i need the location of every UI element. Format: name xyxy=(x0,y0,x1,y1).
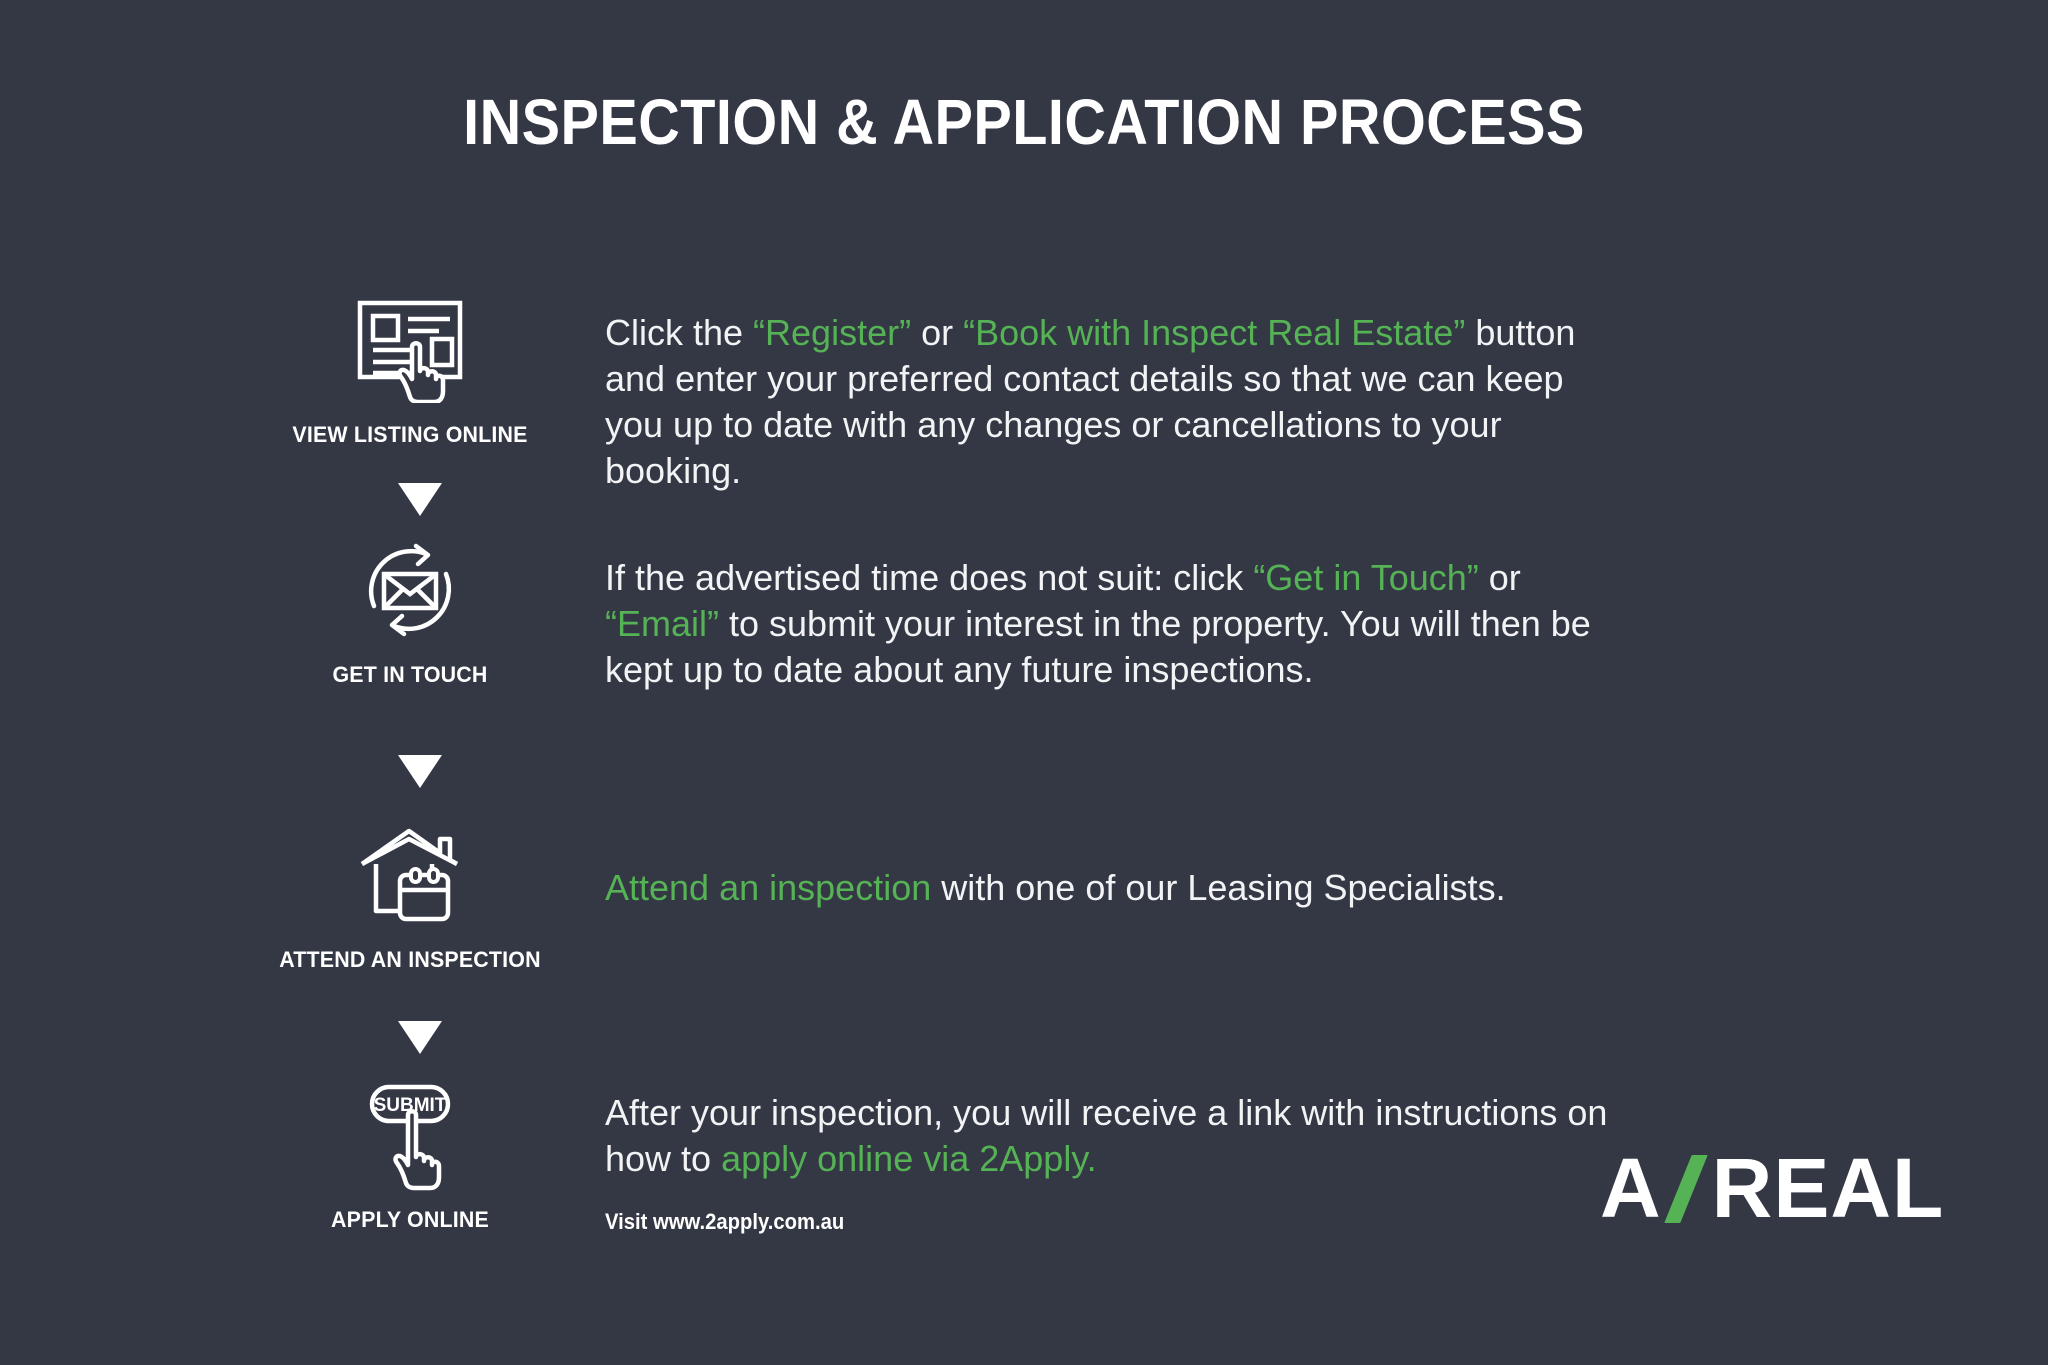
step-4-icon-and-label: SUBMIT APPLY ONLINE xyxy=(265,1075,555,1233)
step-2-text-seg-1: “Get in Touch” xyxy=(1253,557,1478,598)
poster-canvas: INSPECTION & APPLICATION PROCESS xyxy=(0,0,2048,1365)
step-arrow-2 xyxy=(398,755,442,788)
step-1-text-seg-3: “Book with Inspect Real Estate” xyxy=(963,312,1465,353)
step-2-text-seg-4: to submit your interest in the property.… xyxy=(605,603,1591,690)
logo-word: REAL xyxy=(1712,1140,1945,1237)
step-1-description: Click the “Register” or “Book with Inspe… xyxy=(605,310,1615,494)
step-3-text-seg-0: Attend an inspection xyxy=(605,867,931,908)
brand-logo: A REAL xyxy=(1600,1140,1944,1237)
visit-url-note: Visit www.2apply.com.au xyxy=(605,1208,1534,1236)
step-2-description: If the advertised time does not suit: cl… xyxy=(605,555,1615,693)
house-calendar-icon xyxy=(265,815,555,935)
step-3-label: ATTEND AN INSPECTION xyxy=(272,947,548,973)
envelope-refresh-icon xyxy=(265,530,555,650)
step-2-label: GET IN TOUCH xyxy=(272,662,548,688)
step-3-description: Attend an inspection with one of our Lea… xyxy=(605,865,1615,911)
logo-letter-a: A xyxy=(1600,1140,1662,1237)
step-1-text-seg-1: “Register” xyxy=(753,312,911,353)
step-4-text-seg-1: apply online via 2Apply. xyxy=(721,1138,1097,1179)
step-3-icon-and-label: ATTEND AN INSPECTION xyxy=(265,815,555,973)
step-1-icon-and-label: VIEW LISTING ONLINE xyxy=(265,290,555,448)
step-1-label: VIEW LISTING ONLINE xyxy=(272,422,548,448)
step-1-text-seg-0: Click the xyxy=(605,312,753,353)
logo-slash-icon xyxy=(1670,1155,1704,1223)
step-3-text-seg-1: with one of our Leasing Specialists. xyxy=(931,867,1505,908)
step-2-text-seg-0: If the advertised time does not suit: cl… xyxy=(605,557,1253,598)
submit-button-pointer-icon: SUBMIT xyxy=(265,1075,555,1195)
listing-card-with-pointer-icon xyxy=(265,290,555,410)
step-2-icon-and-label: GET IN TOUCH xyxy=(265,530,555,688)
step-2-text-seg-2: or xyxy=(1479,557,1521,598)
step-arrow-3 xyxy=(398,1021,442,1054)
step-arrow-1 xyxy=(398,483,442,516)
step-2-text-seg-3: “Email” xyxy=(605,603,719,644)
step-4-label: APPLY ONLINE xyxy=(272,1207,548,1233)
step-4-description: After your inspection, you will receive … xyxy=(605,1090,1615,1236)
step-1-text-seg-2: or xyxy=(911,312,963,353)
